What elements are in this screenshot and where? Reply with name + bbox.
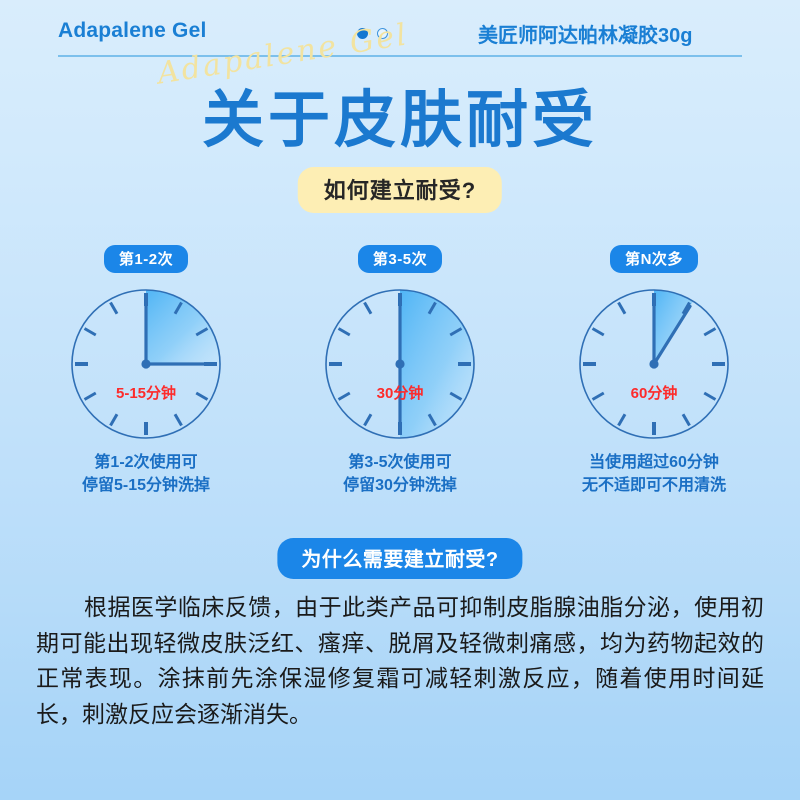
header-divider (58, 55, 742, 57)
page-indicator-dots (357, 28, 388, 39)
clock-diagram-1: 5-15分钟 (66, 284, 226, 444)
brand-name-english: Adapalene Gel (58, 19, 206, 43)
tolerance-step-1: 第1-2次 5-15分钟 (46, 245, 246, 444)
step-badge-2: 第3-5次 (358, 245, 442, 273)
step-badge-1: 第1-2次 (104, 245, 188, 273)
tolerance-steps-row: 第1-2次 5-15分钟 第3-5次 30分钟 第N次多 60分钟 (0, 245, 800, 444)
tolerance-step-3: 第N次多 60分钟 (554, 245, 754, 444)
step-caption-1-line1: 第1-2次使用可 (46, 452, 246, 475)
why-section-paragraph: 根据医学临床反馈，由于此类产品可抑制皮脂腺油脂分泌，使用初期可能出现轻微皮肤泛红… (36, 590, 764, 733)
step-caption-1-line2: 停留5-15分钟洗掉 (46, 475, 246, 498)
clock-diagram-3: 60分钟 (574, 284, 734, 444)
step-captions-row: 第1-2次使用可 停留5-15分钟洗掉 第3-5次使用可 停留30分钟洗掉 当使… (0, 452, 800, 497)
page-dot-inactive-icon[interactable] (377, 28, 388, 39)
page-header: Adapalene Gel 美匠师阿达帕林凝胶30g (0, 0, 800, 58)
clock-duration-label-2: 30分钟 (320, 382, 480, 403)
step-caption-1: 第1-2次使用可 停留5-15分钟洗掉 (46, 452, 246, 497)
clock-face-1-icon (66, 284, 226, 444)
step-caption-2: 第3-5次使用可 停留30分钟洗掉 (300, 452, 500, 497)
clock-duration-label-1: 5-15分钟 (66, 382, 226, 403)
page-title: 关于皮肤耐受 (0, 90, 800, 152)
step-caption-3-line2: 无不适即可不用清洗 (554, 475, 754, 498)
clock-face-2-icon (320, 284, 480, 444)
step-caption-3: 当使用超过60分钟 无不适即可不用清洗 (554, 452, 754, 497)
clock-duration-label-3: 60分钟 (574, 382, 734, 403)
tolerance-step-2: 第3-5次 30分钟 (300, 245, 500, 444)
brand-name-chinese: 美匠师阿达帕林凝胶30g (478, 19, 692, 48)
step-caption-2-line1: 第3-5次使用可 (300, 452, 500, 475)
product-detail-page: Adapalene Gel 美匠师阿达帕林凝胶30g Adapalene Gel… (0, 0, 800, 800)
clock-diagram-2: 30分钟 (320, 284, 480, 444)
page-dot-active-icon[interactable] (357, 28, 368, 39)
step-caption-2-line2: 停留30分钟洗掉 (300, 475, 500, 498)
clock-face-3-icon (574, 284, 734, 444)
step-caption-3-line1: 当使用超过60分钟 (554, 452, 754, 475)
subtitle-badge: 如何建立耐受? (298, 167, 502, 213)
why-section-badge: 为什么需要建立耐受? (277, 538, 522, 579)
step-badge-3: 第N次多 (610, 245, 698, 273)
